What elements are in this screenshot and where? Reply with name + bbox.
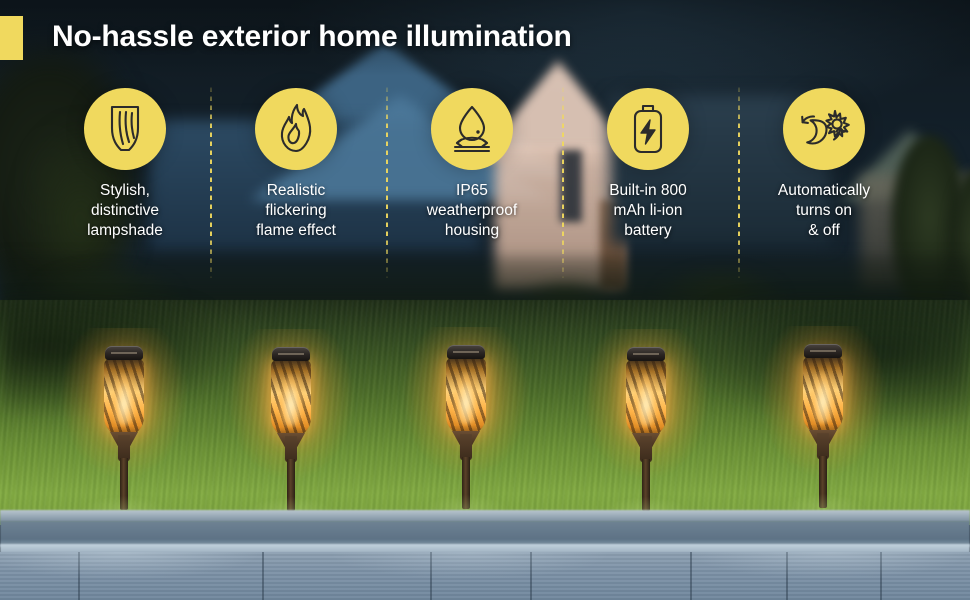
feature-label: IP65 weatherproof housing — [427, 181, 517, 241]
torch-cap-label — [111, 352, 137, 354]
feature-label: Built-in 800 mAh li-ion battery — [609, 181, 687, 241]
feature-label: Automatically turns on & off — [778, 181, 870, 241]
torch-flame-core — [112, 373, 136, 425]
sun-moon-auto-cycle-icon — [797, 103, 851, 155]
flame-icon — [272, 102, 320, 156]
feature-icon-circle — [255, 88, 337, 170]
torch-cap-label — [453, 351, 479, 353]
feature-item-lampshade: Stylish, distinctive lampshade — [40, 88, 210, 241]
feature-label: Realistic flickering flame effect — [256, 181, 336, 241]
torch-cap-label — [278, 353, 304, 355]
torch-flame-core — [454, 372, 478, 424]
accent-bar — [0, 16, 23, 60]
feature-item-battery: Built-in 800 mAh li-ion battery — [563, 88, 733, 241]
feature-icon-circle — [607, 88, 689, 170]
feature-label: Stylish, distinctive lampshade — [87, 181, 163, 241]
feature-icon-circle — [84, 88, 166, 170]
battery-bolt-icon — [627, 102, 669, 156]
page-title: No-hassle exterior home illumination — [52, 20, 572, 54]
torch-cap-label — [633, 353, 659, 355]
water-droplet-repel-icon — [446, 103, 498, 155]
lampshade-icon — [102, 102, 148, 156]
feature-item-auto-onoff: Automatically turns on & off — [739, 88, 909, 241]
torch-flame-core — [811, 371, 835, 423]
feature-strip: Stylish, distinctive lampshade Realistic… — [0, 88, 970, 268]
torch-flame-body — [104, 359, 144, 437]
torch-flame-core — [279, 374, 303, 426]
torch-flame-body — [446, 358, 486, 436]
feature-item-weatherproof: IP65 weatherproof housing — [387, 88, 557, 241]
feature-item-flame: Realistic flickering flame effect — [211, 88, 381, 241]
torch-flame-core — [634, 374, 658, 426]
torch-flame-body — [803, 357, 843, 435]
feature-icon-circle — [431, 88, 513, 170]
torch-flame-body — [271, 360, 311, 438]
pavement-glow — [0, 552, 970, 600]
torch-cap-label — [810, 350, 836, 352]
feature-icon-circle — [783, 88, 865, 170]
product-infographic: No-hassle exterior home illumination Sty… — [0, 0, 970, 600]
torch-flame-body — [626, 360, 666, 438]
